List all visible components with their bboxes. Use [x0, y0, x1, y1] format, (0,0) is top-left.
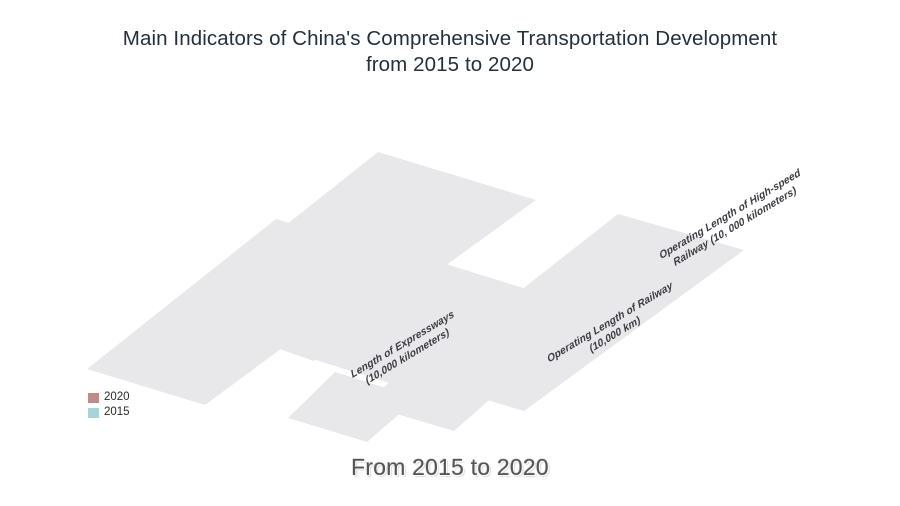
- legend-swatch-2015: [88, 408, 99, 418]
- legend-label-2020: 2020: [104, 391, 130, 404]
- chart-title: Main Indicators of China's Comprehensive…: [0, 26, 900, 78]
- legend-label-2015: 2015: [104, 406, 130, 419]
- legend-item-2020[interactable]: 2020: [88, 391, 130, 404]
- legend-item-2015[interactable]: 2015: [88, 406, 130, 419]
- legend-swatch-2020: [88, 393, 99, 403]
- bottom-caption: From 2015 to 2020: [0, 452, 900, 482]
- slide-canvas: Length of Expressways (10,000 kilometers…: [0, 0, 900, 506]
- chart-legend: 2020 2015: [88, 391, 130, 419]
